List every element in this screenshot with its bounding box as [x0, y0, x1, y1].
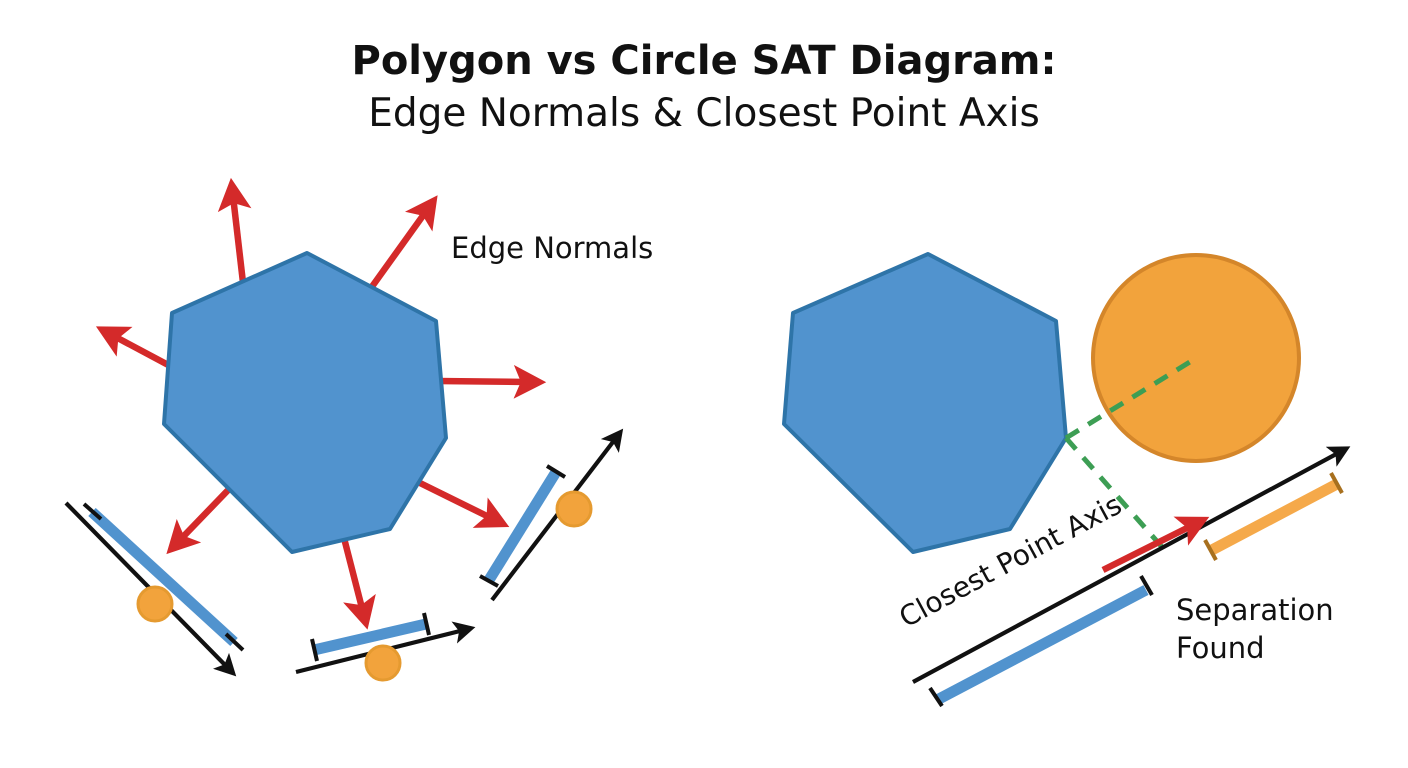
edge-normal-arrow-down-right — [420, 483, 493, 519]
axis-line — [492, 438, 616, 600]
edge-normal-arrow-down-left — [179, 486, 232, 541]
separation-found-label-line-1: Separation — [1176, 593, 1334, 627]
orange-circle — [1093, 255, 1299, 461]
right-heptagon — [784, 254, 1066, 552]
circle-projection-band — [1210, 484, 1337, 551]
left-heptagon — [164, 253, 446, 552]
sat-diagram-svg: Polygon vs Circle SAT Diagram: Edge Norm… — [0, 0, 1408, 768]
edge-normal-arrow-up-left — [112, 335, 172, 367]
circle-projection-dot — [138, 587, 172, 621]
projection-axis-bottom-middle — [296, 613, 464, 680]
page-title-line-2: Edge Normals & Closest Point Axis — [368, 91, 1040, 136]
separation-found-label-line-2: Found — [1176, 631, 1265, 665]
band-tick-start — [312, 639, 317, 661]
edge-normal-arrow-down — [344, 538, 363, 612]
separation-gap-arrow — [1103, 525, 1193, 570]
left-panel: Edge Normals — [66, 196, 653, 680]
projection-axis-lower-left — [66, 503, 243, 668]
circle-projection-dot — [557, 492, 591, 526]
polygon-projection-band — [489, 472, 556, 580]
right-panel: Closest Point Axis Separation Found — [784, 254, 1342, 706]
diagram-canvas: Polygon vs Circle SAT Diagram: Edge Norm… — [0, 0, 1408, 768]
axis-line — [66, 503, 228, 668]
polygon-projection-band — [937, 590, 1146, 700]
page-title-line-1: Polygon vs Circle SAT Diagram: — [352, 38, 1057, 84]
edge-normals-label: Edge Normals — [451, 231, 653, 265]
polygon-projection-band — [314, 624, 426, 650]
edge-normal-arrow-right — [437, 381, 528, 382]
edge-normal-arrow-up-right — [366, 210, 427, 295]
band-tick-end — [424, 613, 429, 635]
polygon-projection-band — [92, 512, 234, 642]
projection-axis-lower-right — [480, 438, 616, 600]
circle-projection-dot — [366, 646, 400, 680]
